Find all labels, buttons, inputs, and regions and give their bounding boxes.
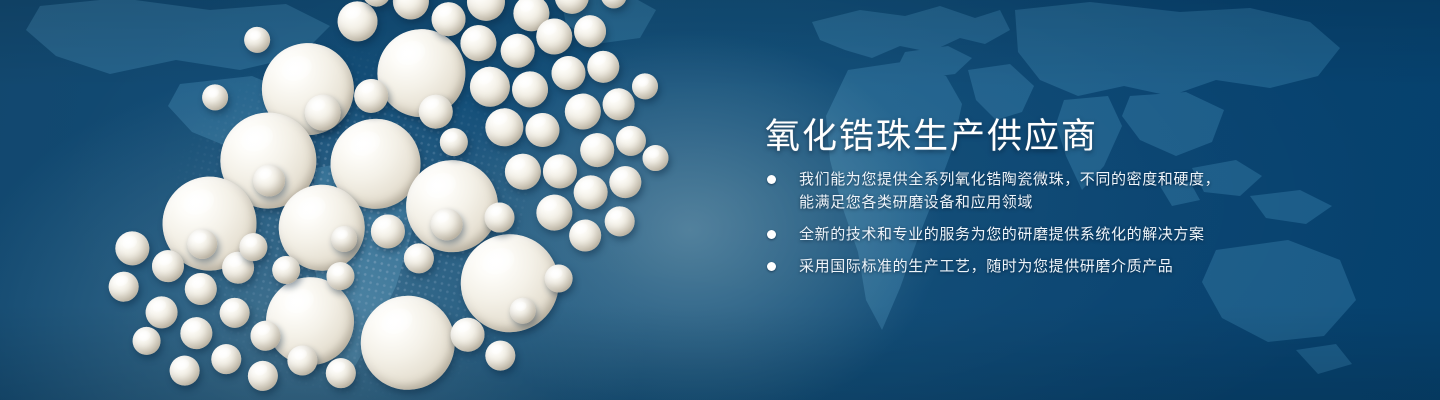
bullet-dot-icon bbox=[767, 230, 776, 239]
zirconia-beads-photo bbox=[62, 0, 738, 400]
bead-cluster bbox=[62, 0, 738, 400]
list-item-text: 全新的技术和专业的服务为您的研磨提供系统化的解决方案 bbox=[799, 226, 1205, 243]
page-title: 氧化锆珠生产供应商 bbox=[765, 108, 1098, 159]
list-item: 采用国际标准的生产工艺，随时为您提供研磨介质产品 bbox=[763, 255, 1223, 278]
hero-banner: 氧化锆珠生产供应商 我们能为您提供全系列氧化锆陶瓷微珠，不同的密度和硬度，能满足… bbox=[0, 0, 1440, 400]
list-item-text: 我们能为您提供全系列氧化锆陶瓷微珠，不同的密度和硬度，能满足您各类研磨设备和应用… bbox=[799, 171, 1220, 211]
banner-copy: 氧化锆珠生产供应商 我们能为您提供全系列氧化锆陶瓷微珠，不同的密度和硬度，能满足… bbox=[763, 0, 1323, 400]
list-item-text: 采用国际标准的生产工艺，随时为您提供研磨介质产品 bbox=[799, 258, 1173, 275]
bullet-dot-icon bbox=[767, 175, 776, 184]
list-item: 我们能为您提供全系列氧化锆陶瓷微珠，不同的密度和硬度，能满足您各类研磨设备和应用… bbox=[763, 168, 1223, 214]
bullet-dot-icon bbox=[767, 262, 776, 271]
feature-list: 我们能为您提供全系列氧化锆陶瓷微珠，不同的密度和硬度，能满足您各类研磨设备和应用… bbox=[763, 168, 1223, 278]
list-item: 全新的技术和专业的服务为您的研磨提供系统化的解决方案 bbox=[763, 223, 1223, 246]
